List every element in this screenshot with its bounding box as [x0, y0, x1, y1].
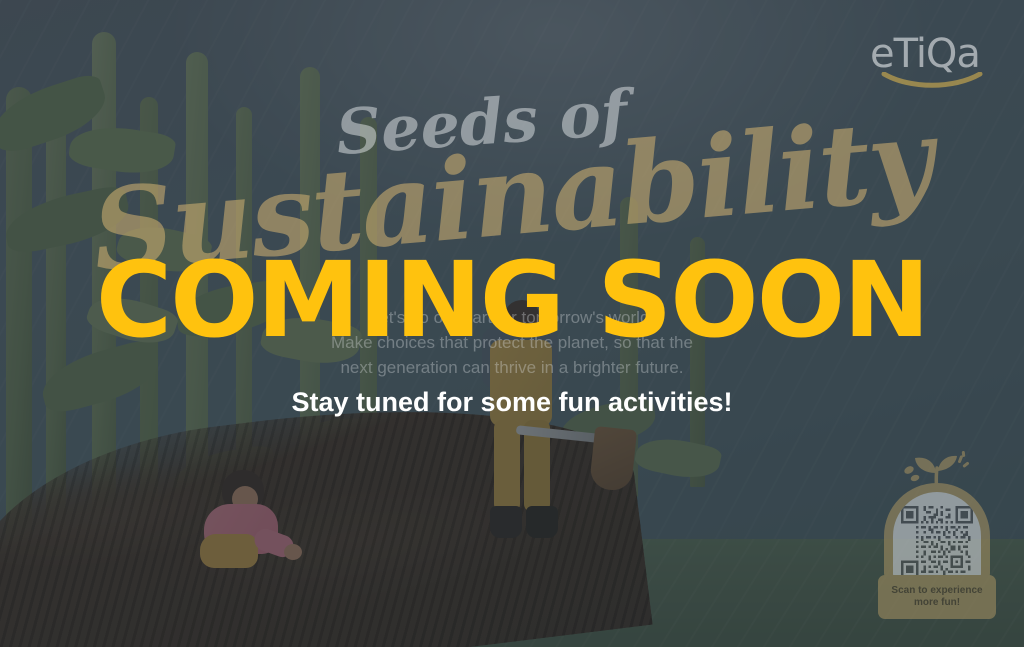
script-line-seeds-of: Seeds of — [334, 82, 629, 164]
foreground-content: eTiQa Seeds of Sustainability Let's do o… — [0, 0, 1024, 647]
qr-badge-caption-line-2: more fun! — [908, 597, 966, 608]
qr-badge-caption: Scan to experiencemore fun! — [879, 585, 994, 609]
qr-badge-arch-frame — [884, 483, 990, 581]
qr-badge-caption-line-1: Scan to experience — [885, 585, 988, 596]
qr-badge-arch-inner — [893, 492, 981, 578]
etiqa-logo: eTiQa — [870, 34, 994, 92]
coming-soon-title: COMING SOON — [0, 248, 1024, 352]
qr-badge-caption-banner: Scan to experiencemore fun! — [878, 575, 996, 619]
coming-soon-subtitle: Stay tuned for some fun activities! — [0, 385, 1024, 419]
etiqa-logo-wordmark: eTiQa — [870, 34, 994, 74]
qr-code[interactable] — [901, 506, 973, 578]
qr-badge[interactable]: Scan to experiencemore fun! — [878, 451, 996, 619]
coming-soon-banner: eTiQa Seeds of Sustainability Let's do o… — [0, 0, 1024, 647]
